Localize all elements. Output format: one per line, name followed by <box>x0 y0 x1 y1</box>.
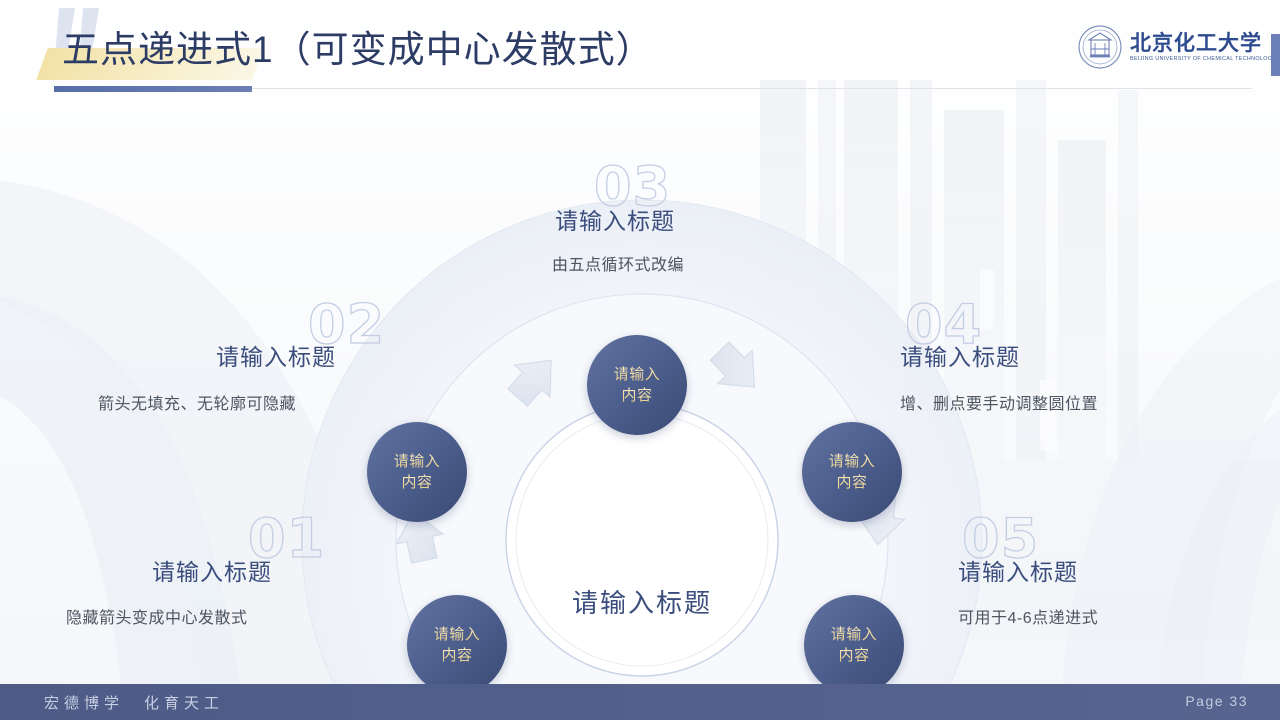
label-03-title: 请输入标题 <box>555 207 675 235</box>
university-logo: 北京化工大学 BEIJING UNIVERSITY OF CHEMICAL TE… <box>1078 18 1253 76</box>
footer-motto: 宏德博学 化育天工 <box>44 692 224 713</box>
node-2-line2: 内容 <box>401 472 432 493</box>
label-01-desc: 隐藏箭头变成中心发散式 <box>66 608 248 630</box>
logo-name-cn: 北京化工大学 <box>1130 31 1276 55</box>
label-01-title: 请输入标题 <box>152 558 272 586</box>
diagram-node-4[interactable]: 请输入 内容 <box>802 422 902 522</box>
title-underline <box>54 86 252 92</box>
node-3-line1: 请输入 <box>614 364 661 385</box>
label-05-desc: 可用于4-6点递进式 <box>958 608 1098 630</box>
footer-page-number: Page 33 <box>1185 693 1248 709</box>
label-02-title: 请输入标题 <box>216 343 336 371</box>
header-accent-bar <box>1271 34 1280 76</box>
label-02-desc: 箭头无填充、无轮廓可隐藏 <box>98 394 296 416</box>
slide-footer: 宏德博学 化育天工 Page 33 <box>0 684 1280 720</box>
page-title: 五点递进式1（可变成中心发散式） <box>62 25 654 75</box>
node-1-line2: 内容 <box>441 645 472 666</box>
diagram-node-1[interactable]: 请输入 内容 <box>407 595 507 695</box>
diagram-node-3[interactable]: 请输入 内容 <box>587 335 687 435</box>
diagram-center-title: 请输入标题 <box>502 583 782 620</box>
label-03-desc: 由五点循环式改编 <box>552 255 684 277</box>
label-04-desc: 增、删点要手动调整圆位置 <box>900 394 1098 416</box>
node-5-line2: 内容 <box>838 645 869 666</box>
node-2-line1: 请输入 <box>394 451 441 472</box>
slide-header: 五点递进式1（可变成中心发散式） 北京化工大学 BEIJING UNIVERSI… <box>0 0 1280 96</box>
slide-root: 五点递进式1（可变成中心发散式） 北京化工大学 BEIJING UNIVERSI… <box>0 0 1280 720</box>
header-divider <box>252 88 1252 89</box>
label-05-title: 请输入标题 <box>958 558 1078 586</box>
label-03-number: 03 <box>594 160 671 214</box>
node-5-line1: 请输入 <box>831 624 878 645</box>
logo-name-en: BEIJING UNIVERSITY OF CHEMICAL TECHNOLOG… <box>1130 55 1276 63</box>
node-1-line1: 请输入 <box>434 624 481 645</box>
label-04-title: 请输入标题 <box>900 343 1020 371</box>
diagram-node-2[interactable]: 请输入 内容 <box>367 422 467 522</box>
node-4-line2: 内容 <box>836 472 867 493</box>
diagram-node-5[interactable]: 请输入 内容 <box>804 595 904 695</box>
university-seal-icon <box>1078 25 1122 69</box>
node-3-line2: 内容 <box>621 385 652 406</box>
node-4-line1: 请输入 <box>829 451 876 472</box>
